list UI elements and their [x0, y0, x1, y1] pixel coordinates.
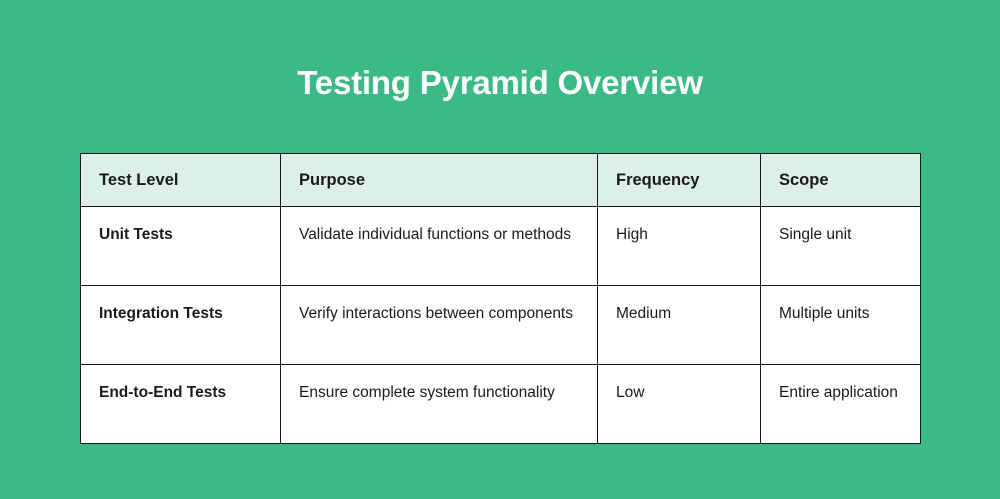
- cell-purpose: Validate individual functions or methods: [281, 207, 598, 286]
- testing-pyramid-table: Test Level Purpose Frequency Scope Unit …: [80, 153, 921, 444]
- column-header-scope: Scope: [761, 154, 921, 207]
- column-header-frequency: Frequency: [598, 154, 761, 207]
- slide-canvas: Testing Pyramid Overview Test Level Purp…: [0, 0, 1000, 499]
- column-header-purpose: Purpose: [281, 154, 598, 207]
- cell-frequency: Low: [598, 365, 761, 444]
- cell-test-level: Integration Tests: [81, 286, 281, 365]
- table-body: Unit Tests Validate individual functions…: [81, 207, 921, 444]
- cell-purpose: Verify interactions between components: [281, 286, 598, 365]
- table-header-row: Test Level Purpose Frequency Scope: [81, 154, 921, 207]
- cell-test-level: Unit Tests: [81, 207, 281, 286]
- table-row: Integration Tests Verify interactions be…: [81, 286, 921, 365]
- cell-frequency: Medium: [598, 286, 761, 365]
- testing-pyramid-table-container: Test Level Purpose Frequency Scope Unit …: [80, 153, 920, 444]
- cell-scope: Multiple units: [761, 286, 921, 365]
- column-header-test-level: Test Level: [81, 154, 281, 207]
- table-header: Test Level Purpose Frequency Scope: [81, 154, 921, 207]
- page-title: Testing Pyramid Overview: [0, 60, 1000, 106]
- cell-purpose: Ensure complete system functionality: [281, 365, 598, 444]
- table-row: End-to-End Tests Ensure complete system …: [81, 365, 921, 444]
- cell-frequency: High: [598, 207, 761, 286]
- cell-test-level: End-to-End Tests: [81, 365, 281, 444]
- table-row: Unit Tests Validate individual functions…: [81, 207, 921, 286]
- cell-scope: Entire application: [761, 365, 921, 444]
- cell-scope: Single unit: [761, 207, 921, 286]
